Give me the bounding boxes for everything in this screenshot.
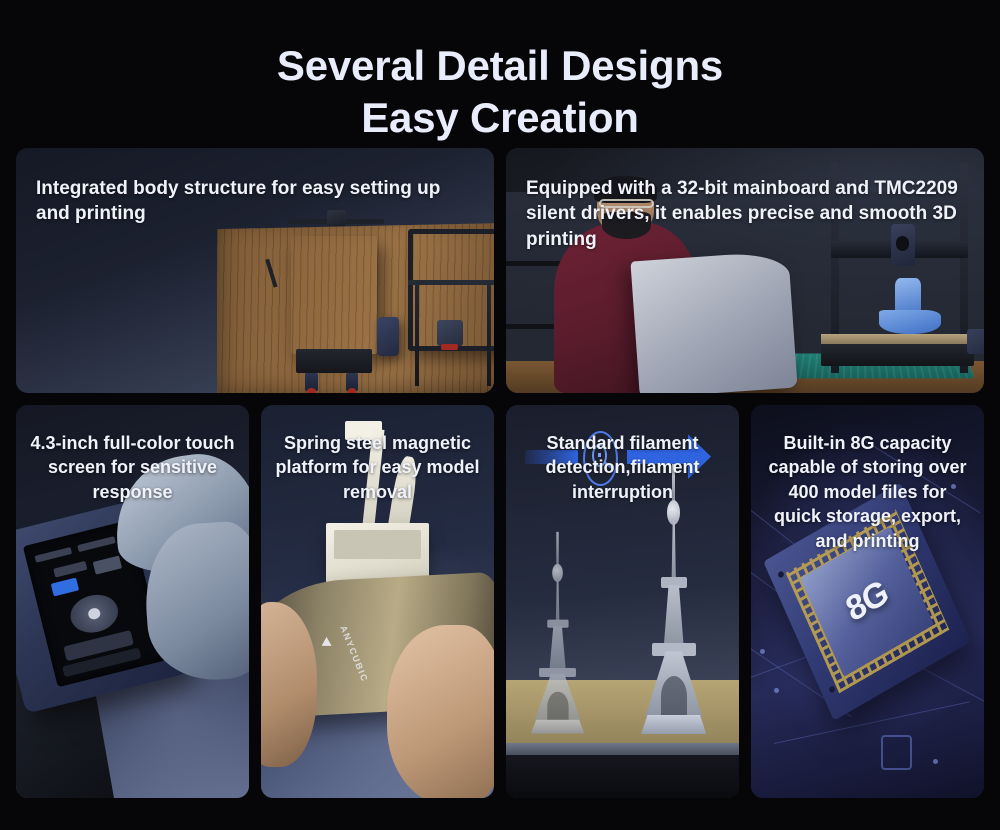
- feature-caption-spring-steel: Spring steel magnetic platform for easy …: [261, 405, 494, 504]
- circuit-node: [774, 688, 779, 693]
- eiffel-tower-model-left: [530, 531, 583, 731]
- tower-base: [641, 715, 706, 734]
- page-title-line-2: Easy Creation: [0, 92, 1000, 144]
- feature-card-spring-steel[interactable]: ANYCUBIC Spring steel magnetic platform …: [261, 405, 494, 798]
- feature-card-mainboard[interactable]: Equipped with a 32-bit mainboard and TMC…: [506, 148, 984, 393]
- tower-mast: [554, 579, 560, 623]
- hand-right: [387, 625, 494, 798]
- feature-card-storage-8g[interactable]: 8G Built-in 8G capacity capable of stori…: [751, 405, 984, 798]
- circuit-node: [760, 649, 765, 654]
- circuit-pad: [881, 735, 911, 770]
- display-row-3: [53, 561, 87, 577]
- tower-midsection: [547, 625, 568, 669]
- display-row-1: [34, 547, 72, 563]
- tower-spire: [556, 531, 558, 567]
- printer-hotend-module: [437, 320, 463, 347]
- printed-box-interior: [334, 530, 420, 558]
- printer-base-unit: [296, 349, 372, 374]
- printer-base: [506, 755, 739, 798]
- printer-control-panel: [967, 329, 984, 354]
- tower-arch: [661, 676, 687, 717]
- boat-hull: [879, 310, 941, 335]
- circuit-trace: [774, 701, 970, 744]
- tower-arch: [547, 691, 568, 721]
- page-title: Several Detail Designs Easy Creation: [0, 0, 1000, 144]
- printer-build-plate: [291, 236, 377, 354]
- chip-hole: [828, 685, 836, 694]
- tower-mast: [670, 522, 678, 583]
- directional-pad-icon: [66, 590, 122, 638]
- printer-screen-module: [377, 317, 399, 356]
- tower-midsection: [661, 585, 687, 646]
- feature-caption-filament-detection: Standard filament detection,filament int…: [506, 405, 739, 504]
- printer-foot-left: [305, 373, 317, 390]
- feature-caption-integrated-body: Integrated body structure for easy setti…: [16, 148, 494, 227]
- printer-body-base: [821, 344, 974, 366]
- bottom-feature-row: 4.3-inch full-color touch screen for sen…: [16, 405, 984, 798]
- printer-x-rail: [408, 280, 494, 285]
- tower-base: [530, 719, 583, 733]
- display-button-secondary: [93, 556, 122, 575]
- feature-card-touch-screen[interactable]: 4.3-inch full-color touch screen for sen…: [16, 405, 249, 798]
- feature-card-integrated-body[interactable]: Integrated body structure for easy setti…: [16, 148, 494, 393]
- display-row-2: [77, 536, 115, 552]
- feature-card-filament-detection[interactable]: Standard filament detection,filament int…: [506, 405, 739, 798]
- printed-boat-model: [879, 275, 941, 334]
- display-button-highlighted: [50, 578, 79, 597]
- feature-caption-mainboard: Equipped with a 32-bit mainboard and TMC…: [506, 148, 984, 252]
- feature-caption-storage-8g: Built-in 8G capacity capable of storing …: [751, 405, 984, 553]
- circuit-node: [933, 759, 938, 764]
- printer-leg-left: [415, 283, 419, 386]
- paper-sheet: [630, 250, 797, 393]
- top-feature-row: Integrated body structure for easy setti…: [16, 148, 984, 393]
- tower-sphere: [552, 563, 563, 581]
- chip-hole: [777, 571, 785, 580]
- printer-leg-right: [487, 283, 491, 386]
- feature-caption-touch-screen: 4.3-inch full-color touch screen for sen…: [16, 405, 249, 504]
- printer-heated-bed: [821, 334, 974, 344]
- printer-foot-right: [346, 373, 358, 390]
- boat-cabin: [895, 278, 921, 312]
- product-feature-page: Several Detail Designs Easy Creation: [0, 0, 1000, 830]
- page-title-line-1: Several Detail Designs: [0, 40, 1000, 92]
